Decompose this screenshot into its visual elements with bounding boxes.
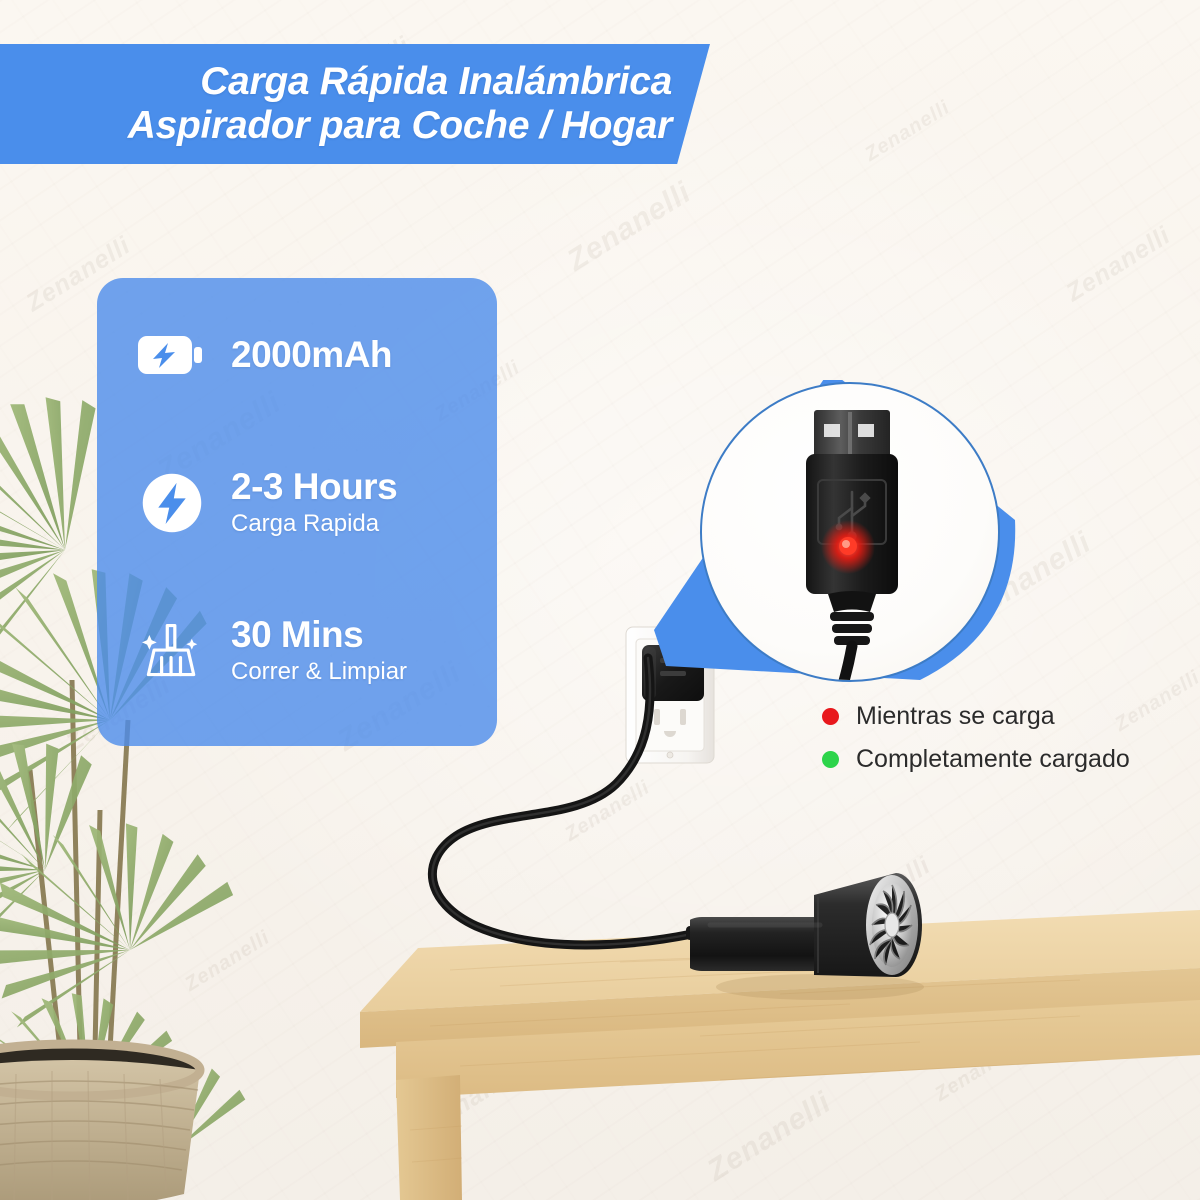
feature-title: 2-3 Hours: [231, 468, 397, 507]
wicker-basket-planter: [0, 1044, 200, 1200]
green-status-dot: [822, 751, 839, 768]
handheld-car-vacuum: [690, 855, 940, 1015]
feature-row-battery: 2000mAh: [137, 320, 392, 390]
feature-row-runtime: 30 Mins Correr & Limpiar: [137, 616, 407, 687]
product-infographic: ZenanelliZenanelliZenanelliZenanelliZena…: [0, 0, 1200, 1200]
legend-item-charging: Mientras se carga: [822, 702, 1130, 731]
red-status-dot: [822, 708, 839, 725]
feature-title: 30 Mins: [231, 616, 407, 655]
feature-title: 2000mAh: [231, 336, 392, 375]
feature-row-charge-time: 2-3 Hours Carga Rapida: [137, 468, 397, 539]
header-banner-text: Carga Rápida Inalámbrica Aspirador para …: [0, 44, 730, 164]
banner-line-2: Aspirador para Coche / Hogar: [128, 104, 672, 148]
led-status-legend: Mientras se carga Completamente cargado: [822, 702, 1130, 788]
legend-item-charged: Completamente cargado: [822, 745, 1130, 774]
legend-label: Completamente cargado: [856, 745, 1130, 774]
feature-subtitle: Carga Rapida: [231, 509, 397, 539]
battery-bolt-icon: [137, 320, 207, 390]
feature-card: 2000mAh 2-3 Hours Carga Rapida: [97, 278, 497, 746]
banner-line-1: Carga Rápida Inalámbrica: [200, 60, 672, 104]
lightning-circle-icon: [137, 468, 207, 538]
legend-label: Mientras se carga: [856, 702, 1055, 731]
magnifier-circle: [700, 382, 1000, 682]
feature-subtitle: Correr & Limpiar: [231, 657, 407, 687]
broom-sparkle-icon: [137, 616, 207, 686]
